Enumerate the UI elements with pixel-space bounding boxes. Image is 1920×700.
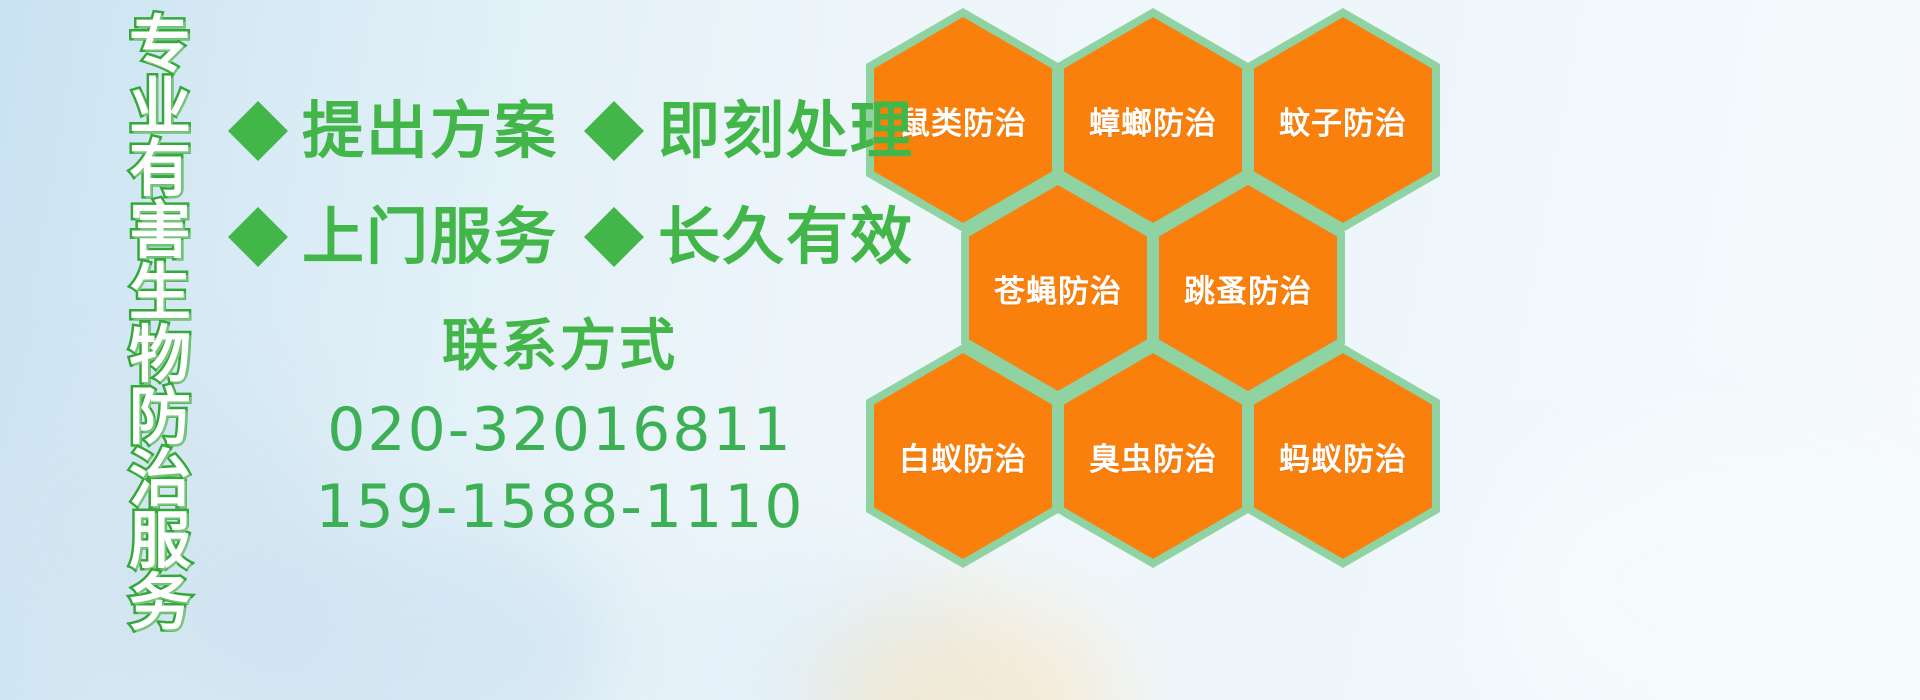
contact-title: 联系方式 [300,312,820,382]
vertical-headline-char: 务 [129,572,191,634]
vertical-headline-char: 专 [129,14,191,76]
feature-item: 上门服务 [228,206,558,268]
diamond-bullet-icon [228,237,288,297]
feature-list: 提出方案 即刻处理 上门服务 长久有效 [228,78,914,290]
promo-banner: 专 业 有 害 生 物 防 治 服 务 提出方案 即刻处理 上门服务 [0,0,1920,700]
feature-label: 长久有效 [658,206,914,268]
vertical-headline-char: 业 [129,76,191,138]
service-hex-label: 鼠类防治 [899,98,1027,143]
service-hex-label: 苍蝇防治 [994,266,1122,311]
contact-block: 联系方式 020-32016811 159-1588-1110 [300,312,820,546]
vertical-headline-char: 有 [129,138,191,200]
vertical-headline-char: 物 [129,324,191,386]
feature-item: 提出方案 [228,100,558,162]
feature-label: 上门服务 [302,206,558,268]
diamond-bullet-icon [584,237,644,297]
feature-row: 提出方案 即刻处理 [228,78,914,184]
vertical-headline-char: 害 [129,200,191,262]
vertical-headline-char: 服 [129,510,191,572]
phone-number-landline[interactable]: 020-32016811 [300,392,820,469]
service-honeycomb-grid: 鼠类防治 蟑螂防治 蚊子防治 苍蝇防治 跳蚤防治 白蚁防治 臭虫防治 [862,0,1442,580]
feature-label: 提出方案 [302,100,558,162]
feature-item: 长久有效 [584,206,914,268]
background-blur-shape [820,600,1120,700]
service-hex-label: 蟑螂防治 [1089,98,1217,143]
background-blur-shape [1500,430,1920,700]
service-hex-label: 蚂蚁防治 [1279,434,1407,479]
service-hex-label: 白蚁防治 [899,434,1027,479]
phone-number-mobile[interactable]: 159-1588-1110 [300,469,820,546]
vertical-headline-char: 治 [129,448,191,510]
background-blur-shape [200,520,620,700]
vertical-headline-char: 防 [129,386,191,448]
background-blur-shape [640,560,980,700]
feature-label: 即刻处理 [658,100,914,162]
service-hex-label: 蚊子防治 [1279,98,1407,143]
vertical-headline-char: 生 [129,262,191,324]
vertical-headline: 专 业 有 害 生 物 防 治 服 务 [112,14,208,574]
feature-row: 上门服务 长久有效 [228,184,914,290]
service-hex-label: 跳蚤防治 [1184,266,1312,311]
service-hex-label: 臭虫防治 [1089,434,1217,479]
feature-item: 即刻处理 [584,100,914,162]
